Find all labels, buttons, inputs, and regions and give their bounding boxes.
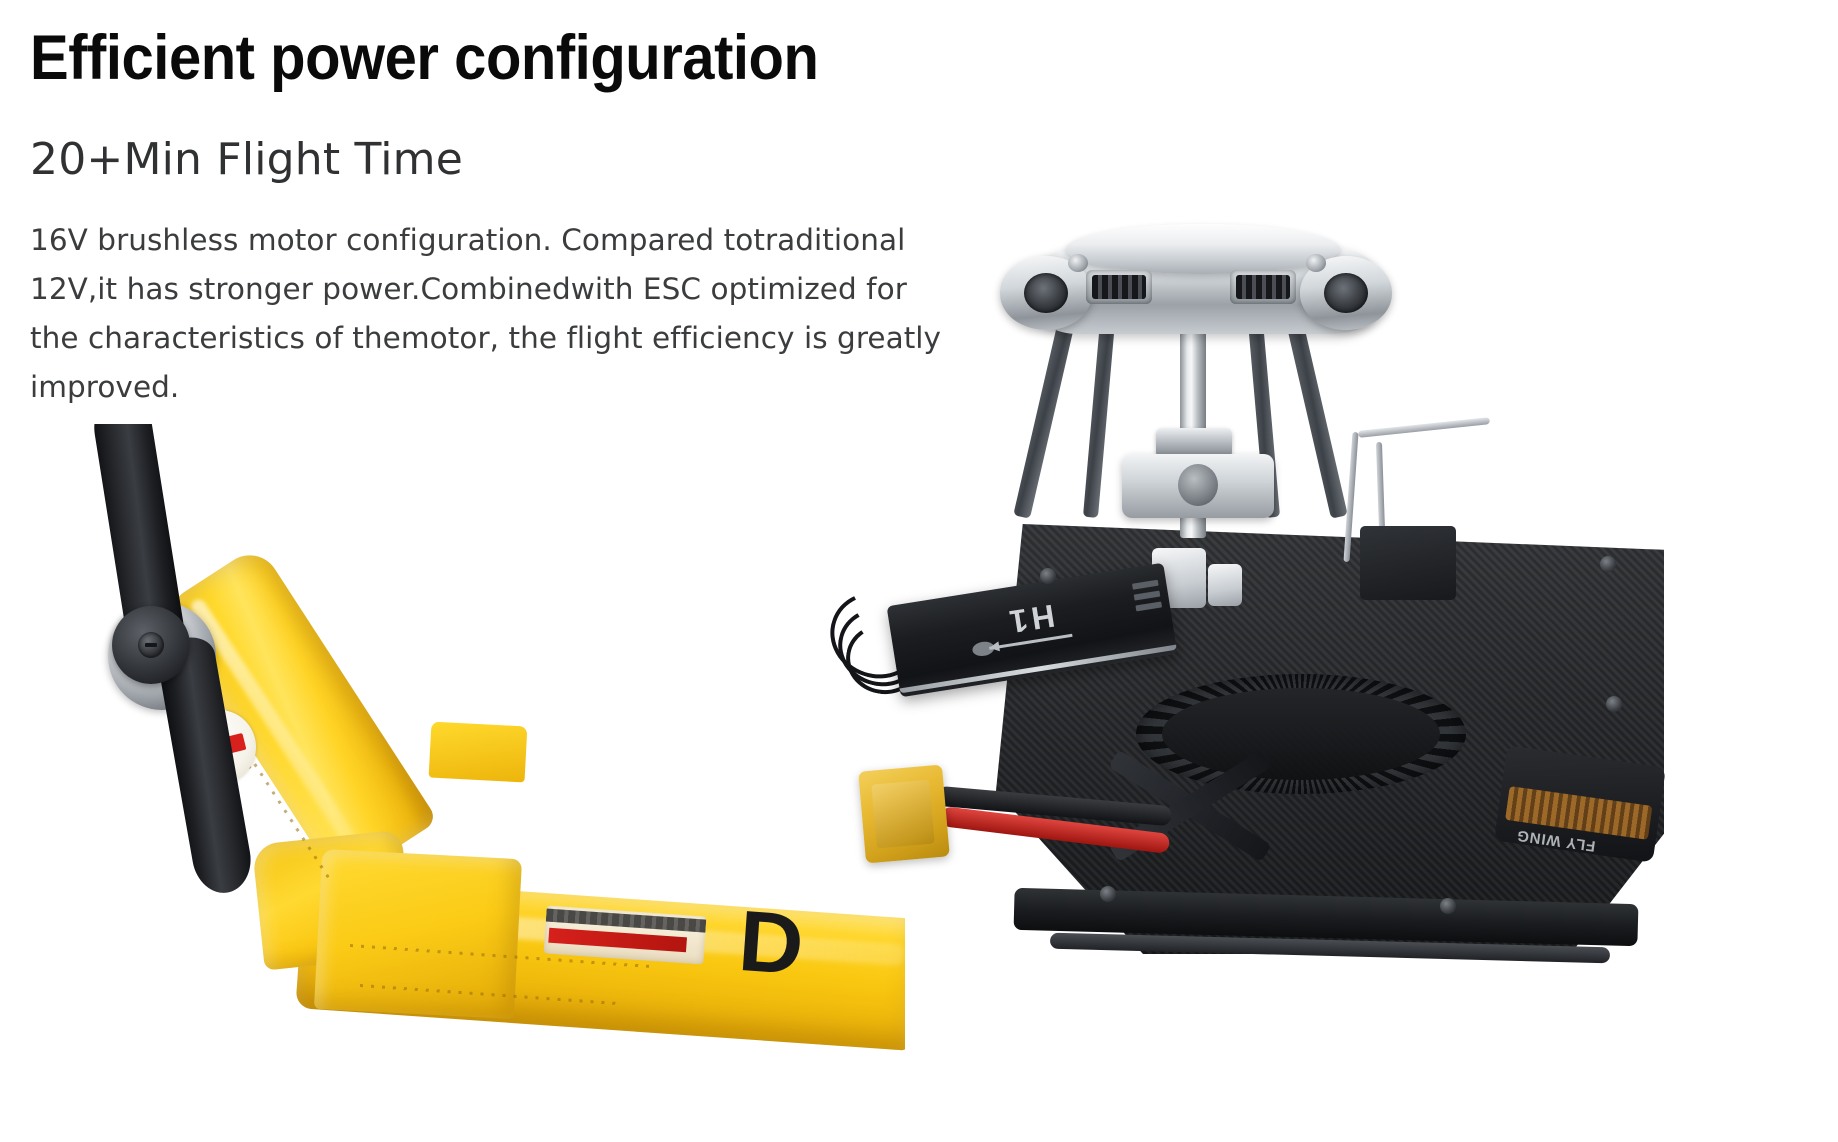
head-screw-icon	[1306, 254, 1326, 272]
propeller-screw-icon	[138, 632, 164, 658]
page-title: Efficient power configuration	[30, 24, 1116, 92]
frame-screw-icon	[1100, 886, 1116, 902]
blade-grip-bore	[1024, 273, 1068, 313]
drone-arm-illustration: D	[0, 424, 905, 1142]
module-port	[1135, 601, 1162, 611]
frame-screw-icon	[1440, 898, 1456, 914]
frame-screw-icon	[1606, 696, 1622, 712]
heli-frame-illustration: FLY WING	[800, 196, 1838, 1142]
feature-subtitle: 20+Min Flight Time	[30, 136, 1210, 184]
servo-block	[1360, 526, 1456, 600]
module-ports	[1132, 580, 1162, 612]
flight-controller-label: H1	[1003, 597, 1057, 641]
head-bearing-slot	[1086, 270, 1152, 304]
main-drive-gear	[1136, 674, 1466, 794]
rotor-head-top-disc	[1066, 224, 1340, 274]
control-rod	[1358, 417, 1490, 438]
product-photo-drone-arm: D	[0, 424, 905, 1142]
rotor-support-spar	[1083, 321, 1115, 518]
frame-screw-icon	[1040, 568, 1056, 584]
propeller-adapter	[112, 606, 190, 684]
drone-boom-tab	[429, 722, 528, 783]
product-feature-page: Efficient power configuration 20+Min Fli…	[0, 0, 1838, 1142]
module-port	[1132, 580, 1159, 590]
rotor-support-spar	[1286, 320, 1348, 519]
head-screw-icon	[1068, 254, 1088, 272]
product-photo-heli-frame: FLY WING	[800, 196, 1838, 1142]
frame-hardware-block	[1208, 564, 1242, 606]
boom-brand-letter: D	[735, 892, 804, 995]
stripe-red-band	[548, 928, 686, 953]
blade-grip-bore	[1324, 273, 1368, 313]
module-port	[1134, 591, 1161, 601]
frame-screw-icon	[1600, 556, 1616, 572]
rotor-support-spar	[1013, 320, 1075, 519]
xt60-connector	[858, 765, 950, 864]
head-bearing-slot	[1230, 270, 1296, 304]
bearing-block	[1122, 454, 1274, 518]
